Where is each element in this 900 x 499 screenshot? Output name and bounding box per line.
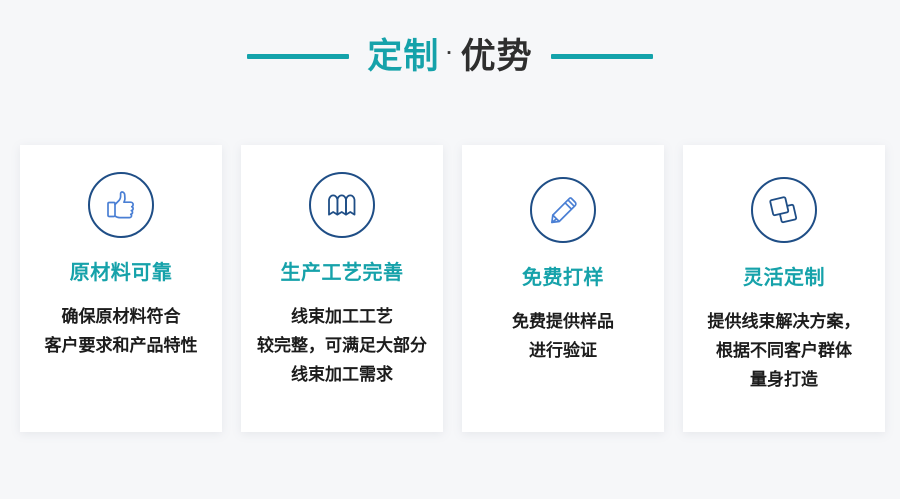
advantages-section: 定制 · 优势 原材料可靠 确保原 (0, 0, 900, 499)
advantage-card-title: 灵活定制 (743, 268, 825, 288)
icon-circle (309, 172, 375, 238)
icon-circle (751, 177, 817, 243)
body-line: 进行验证 (468, 336, 658, 365)
body-line: 根据不同客户群体 (689, 336, 879, 365)
body-line: 较完整，可满足大部分 (247, 331, 437, 360)
body-line: 线束加工需求 (247, 360, 437, 389)
icon-circle (530, 177, 596, 243)
advantage-card-title: 生产工艺完善 (281, 263, 404, 283)
body-line: 提供线束解决方案， (689, 307, 879, 336)
advantage-card-free-sample[interactable]: 免费打样 免费提供样品 进行验证 (462, 145, 664, 432)
advantage-card-body: 确保原材料符合 客户要求和产品特性 (26, 302, 216, 360)
body-line: 免费提供样品 (468, 307, 658, 336)
thumbs-up-icon (103, 187, 139, 223)
page-title: 定制 · 优势 (367, 39, 532, 74)
header-rule-right (551, 54, 653, 59)
advantage-card-production-process[interactable]: 生产工艺完善 线束加工工艺 较完整，可满足大部分 线束加工需求 (241, 145, 443, 432)
section-header: 定制 · 优势 (0, 26, 900, 86)
page-title-accent: 定制 (367, 39, 439, 74)
folded-map-icon (324, 187, 360, 223)
advantage-card-body: 提供线束解决方案， 根据不同客户群体 量身打造 (689, 307, 879, 394)
body-line: 客户要求和产品特性 (26, 331, 216, 360)
advantage-card-body: 线束加工工艺 较完整，可满足大部分 线束加工需求 (247, 302, 437, 389)
icon-circle (88, 172, 154, 238)
advantage-card-list: 原材料可靠 确保原材料符合 客户要求和产品特性 生产工艺完善 线束加工工艺 (20, 145, 885, 432)
pencil-icon (545, 192, 581, 228)
body-line: 量身打造 (689, 365, 879, 394)
body-line: 线束加工工艺 (247, 302, 437, 331)
body-line: 确保原材料符合 (26, 302, 216, 331)
advantage-card-raw-material[interactable]: 原材料可靠 确保原材料符合 客户要求和产品特性 (20, 145, 222, 432)
header-rule-left (247, 54, 349, 59)
advantage-card-title: 原材料可靠 (70, 263, 173, 283)
advantage-card-flexible-customization[interactable]: 灵活定制 提供线束解决方案， 根据不同客户群体 量身打造 (683, 145, 885, 432)
advantage-card-title: 免费打样 (522, 268, 604, 288)
advantage-card-body: 免费提供样品 进行验证 (468, 307, 658, 365)
page-title-main: 优势 (461, 39, 533, 74)
stacked-cards-icon (766, 192, 802, 228)
page-title-separator: · (446, 44, 453, 63)
